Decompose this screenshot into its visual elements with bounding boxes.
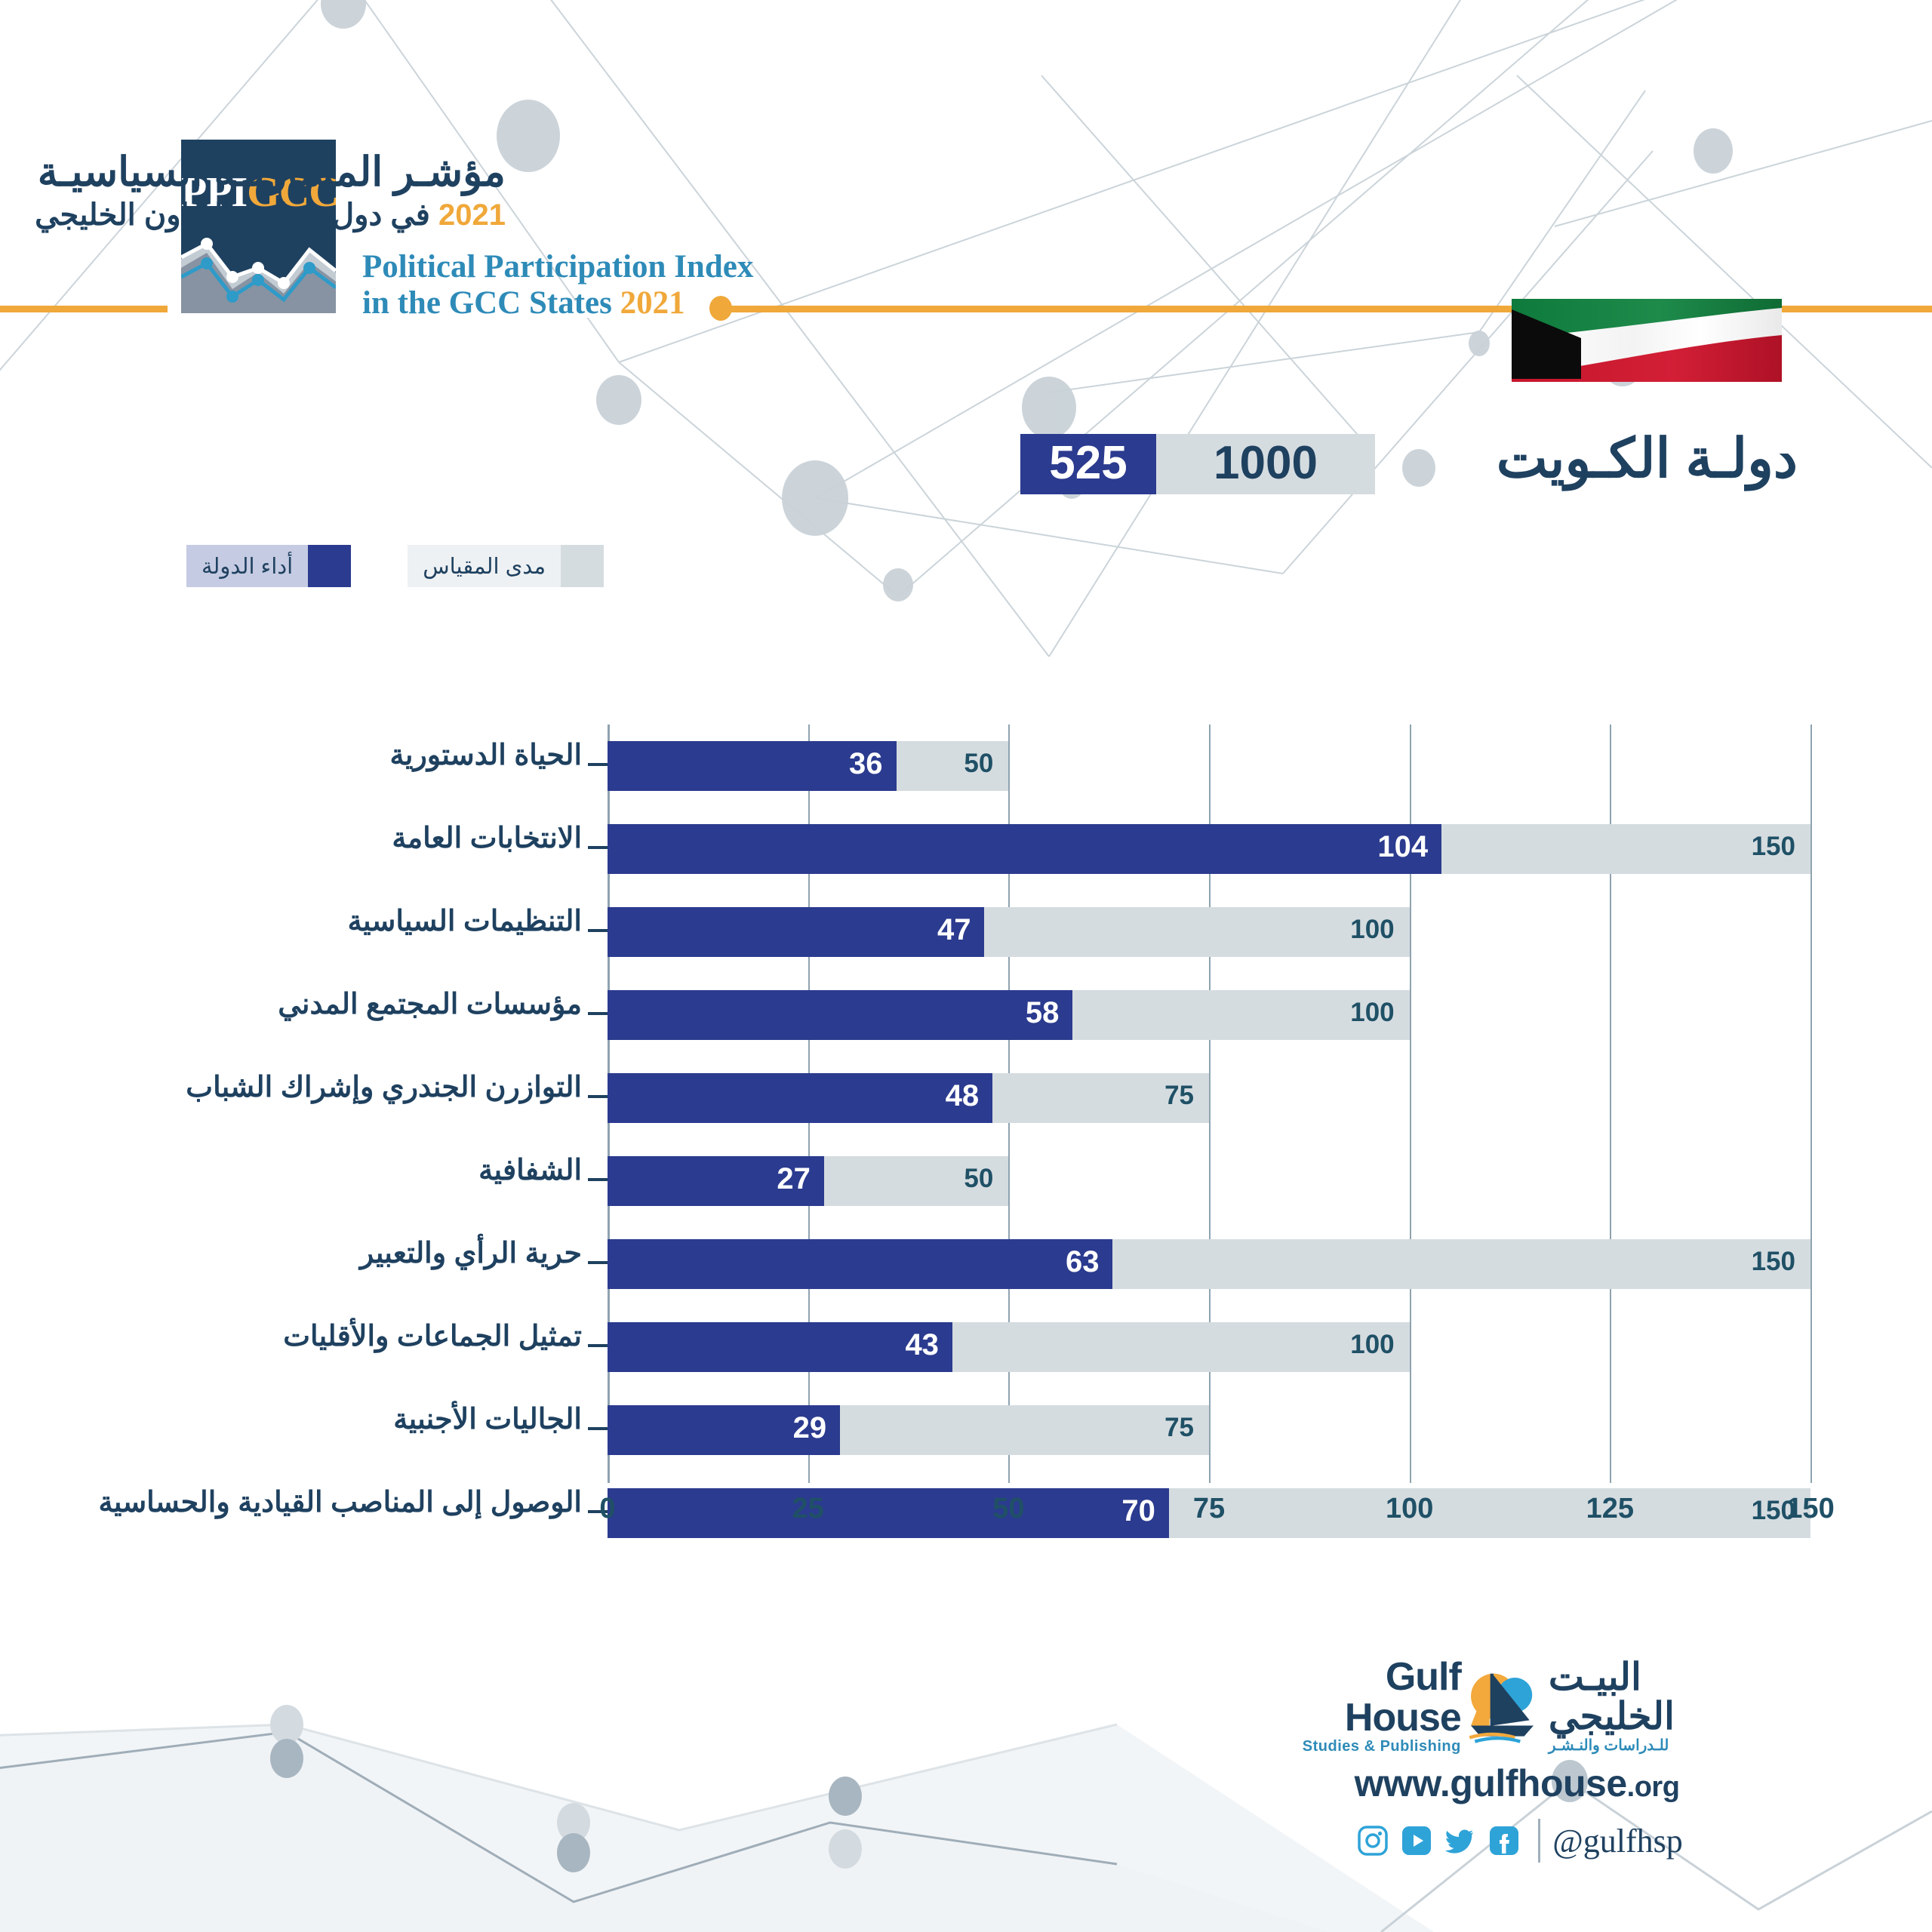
- social-handle: @gulfhsp: [1552, 1822, 1683, 1860]
- header-divider-dot: [709, 296, 732, 321]
- website-url[interactable]: www.gulfhouse.org: [1283, 1761, 1751, 1805]
- bar-value-label: 104: [1343, 830, 1428, 864]
- youtube-icon[interactable]: [1401, 1826, 1432, 1856]
- chart-row-label-4: مؤسسات المجتمع المدني: [0, 974, 608, 1057]
- category-label: الوصول إلى المناصب القيادية والحساسية: [99, 1485, 583, 1519]
- chart-row-label-10: الوصول إلى المناصب القيادية والحساسية: [0, 1472, 608, 1555]
- bar-max-label: 100: [1315, 915, 1395, 945]
- bar-max-label: 100: [1315, 998, 1395, 1028]
- gulf-house-name-en: Gulf House: [1283, 1657, 1461, 1738]
- website-url-tld: .org: [1627, 1771, 1680, 1803]
- category-tick: [588, 763, 608, 766]
- bar-value-label: 27: [726, 1162, 811, 1196]
- bar-max-label: 150: [1716, 1247, 1795, 1277]
- chart-row-label-9: الجاليات الأجنبية: [0, 1389, 608, 1472]
- bar-max-label: 150: [1716, 1496, 1795, 1526]
- category-label: مؤسسات المجتمع المدني: [278, 987, 582, 1021]
- bar-value-label: 36: [798, 747, 883, 781]
- social-links: @gulfhsp: [1283, 1819, 1751, 1863]
- bar-value-label: 48: [894, 1079, 979, 1113]
- chart-row-label-7: حرية الرأي والتعبير: [0, 1223, 608, 1306]
- gulf-house-logo: Gulf House Studies & Publishing البيـت ا…: [1283, 1660, 1751, 1751]
- bar-max-label: 50: [914, 749, 993, 779]
- category-label: تمثيل الجماعات والأقليات: [283, 1319, 582, 1353]
- category-label: حرية الرأي والتعبير: [360, 1236, 582, 1270]
- bar-max-label: 75: [1115, 1413, 1194, 1443]
- x-tick-label-0: 0: [599, 1493, 615, 1525]
- instagram-icon[interactable]: [1358, 1826, 1388, 1856]
- x-tick-label-50: 50: [992, 1493, 1024, 1525]
- category-tick: [588, 1261, 608, 1264]
- x-tick-label-75: 75: [1193, 1493, 1225, 1525]
- chart-row-label-2: الانتخابات العامة: [0, 808, 608, 891]
- category-label: الشفافية: [478, 1153, 582, 1187]
- twitter-icon[interactable]: [1445, 1826, 1475, 1856]
- bar-max-label: 50: [914, 1164, 993, 1194]
- category-tick: [588, 1427, 608, 1430]
- category-label: الجاليات الأجنبية: [393, 1402, 582, 1436]
- bar-chart: الحياة الدستورية3650الانتخابات العامة104…: [0, 0, 1932, 1932]
- bar-value-label: 63: [1014, 1245, 1099, 1279]
- dhow-boat-icon: [1466, 1663, 1544, 1748]
- gulf-house-name-ar-block: البيـت الخليجي للـدراسات والنـشـر: [1549, 1657, 1751, 1755]
- gulf-house-name-en-block: Gulf House Studies & Publishing: [1283, 1657, 1461, 1755]
- category-label: الحياة الدستورية: [390, 738, 583, 772]
- bar-state-performance: [608, 824, 1441, 874]
- category-label: التنظيمات السياسية: [348, 904, 582, 938]
- category-tick: [588, 1095, 608, 1098]
- chart-row-label-8: تمثيل الجماعات والأقليات: [0, 1306, 608, 1389]
- bar-max-label: 75: [1115, 1081, 1194, 1111]
- x-tick-label-100: 100: [1386, 1493, 1433, 1525]
- x-tick-label-150: 150: [1786, 1493, 1834, 1525]
- chart-row-label-1: الحياة الدستورية: [0, 724, 608, 808]
- facebook-icon[interactable]: [1489, 1826, 1519, 1856]
- category-label: التوازرن الجندري وإشراك الشباب: [186, 1070, 582, 1104]
- chart-row-label-5: التوازرن الجندري وإشراك الشباب: [0, 1057, 608, 1140]
- x-tick-label-125: 125: [1586, 1493, 1634, 1525]
- category-tick: [588, 846, 608, 849]
- category-tick: [588, 1178, 608, 1181]
- website-url-main: www.gulfhouse: [1355, 1762, 1627, 1804]
- category-tick: [588, 1012, 608, 1015]
- x-tick-label-25: 25: [792, 1493, 824, 1525]
- chart-row-label-3: التنظيمات السياسية: [0, 891, 608, 974]
- bar-max-label: 150: [1716, 832, 1795, 862]
- bar-value-label: 29: [742, 1411, 826, 1445]
- gulf-house-tagline-en: Studies & Publishing: [1283, 1738, 1461, 1755]
- footer: Gulf House Studies & Publishing البيـت ا…: [1283, 1660, 1751, 1863]
- category-tick: [588, 1344, 608, 1347]
- chart-row-label-6: الشفافية: [0, 1140, 608, 1223]
- gulf-house-name-ar: البيـت الخليجي: [1549, 1657, 1751, 1736]
- bar-value-label: 58: [974, 996, 1059, 1030]
- kuwait-flag-icon: [1512, 299, 1782, 382]
- category-label: الانتخابات العامة: [392, 821, 582, 855]
- category-tick: [588, 929, 608, 932]
- bar-value-label: 47: [886, 913, 971, 947]
- gulf-house-tagline-ar: للـدراسات والنـشـر: [1549, 1736, 1751, 1755]
- social-divider: [1538, 1819, 1540, 1863]
- gridline-150: [1810, 724, 1812, 1483]
- bar-value-label: 70: [1071, 1494, 1155, 1528]
- bar-value-label: 43: [854, 1328, 939, 1362]
- bar-max-label: 100: [1315, 1330, 1395, 1360]
